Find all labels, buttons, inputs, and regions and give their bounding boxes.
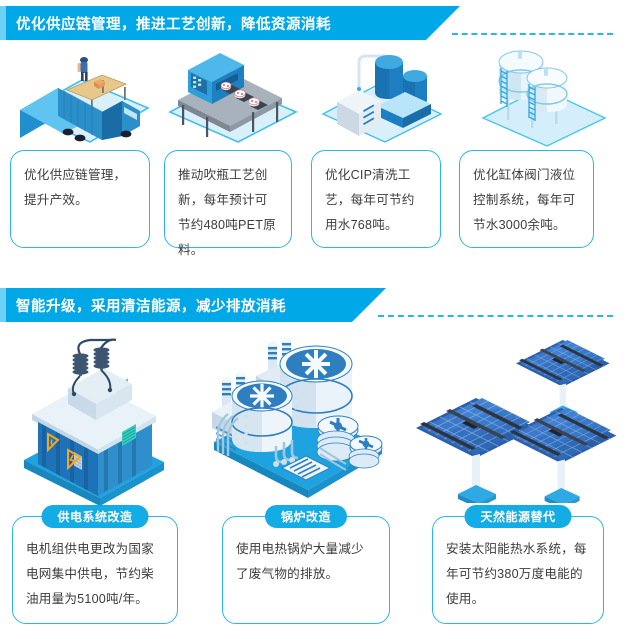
industrial-boiler-icon [212, 338, 382, 498]
banner-dashed-line-supply-chain [452, 33, 613, 35]
solar-panel-array-icon [416, 340, 616, 503]
illustration-electrical-substation [12, 336, 194, 511]
card-clean-energy-2[interactable]: 锅炉改造 使用电热锅炉大量减少了废气物的排放。 [222, 516, 390, 624]
card-supply-chain-3-text: 优化CIP清洗工艺，每年可节约用水768吨。 [312, 151, 440, 238]
card-clean-energy-2-tab: 锅炉改造 [265, 505, 347, 528]
valve-stack-small [349, 436, 382, 468]
card-supply-chain-4[interactable]: 优化缸体阀门液位控制系统，每年可节水3000余吨。 [459, 150, 594, 248]
illustration-row-supply-chain [0, 48, 633, 144]
boiler-medium [232, 381, 292, 452]
card-supply-chain-2-text: 推动吹瓶工艺创新，每年预计可节约480吨PET原料。 [165, 151, 291, 263]
card-clean-energy-1-tab: 供电系统改造 [41, 505, 148, 528]
illustration-delivery-truck-loading [6, 50, 158, 151]
section-banner-supply-chain: 优化供应链管理，推进工艺创新，降低资源消耗 [0, 6, 633, 40]
card-supply-chain-1[interactable]: 优化供应链管理，提升产效。 [10, 150, 150, 248]
banner-accent-bar [0, 288, 6, 322]
banner-dashed-line-clean-energy [378, 315, 613, 317]
card-supply-chain-2[interactable]: 推动吹瓶工艺创新，每年预计可节约480吨PET原料。 [164, 150, 292, 248]
electrical-substation-icon [24, 340, 164, 506]
banner-title-supply-chain: 优化供应链管理，推进工艺创新，降低资源消耗 [16, 13, 331, 34]
card-clean-energy-3[interactable]: 天然能源替代 安装太阳能热水系统，每年可节约380万度电能的使用。 [432, 516, 604, 624]
card-row-supply-chain: 优化供应链管理，提升产效。 推动吹瓶工艺创新，每年预计可节约480吨PET原料。… [0, 150, 633, 260]
card-supply-chain-4-text: 优化缸体阀门液位控制系统，每年可节水3000余吨。 [460, 151, 593, 238]
illustration-bottle-conveyor-line [158, 48, 310, 149]
card-supply-chain-1-text: 优化供应链管理，提升产效。 [11, 151, 149, 213]
banner-clean-energy: 智能升级，采用清洁能源，减少排放消耗 [0, 288, 352, 322]
card-clean-energy-3-text: 安装太阳能热水系统，每年可节约380万度电能的使用。 [433, 517, 603, 612]
banner-title-clean-energy: 智能升级，采用清洁能源，减少排放消耗 [16, 295, 286, 316]
card-supply-chain-3[interactable]: 优化CIP清洗工艺，每年可节约用水768吨。 [311, 150, 441, 248]
banner-accent-bar [0, 6, 6, 40]
storage-tanks-icon [483, 51, 605, 146]
delivery-truck-loading-icon [20, 57, 148, 142]
card-clean-energy-3-tab: 天然能源替代 [464, 505, 571, 528]
illustration-industrial-boiler [196, 330, 396, 510]
illustration-row-clean-energy [0, 330, 633, 505]
section-banner-clean-energy: 智能升级，采用清洁能源，减少排放消耗 [0, 288, 633, 322]
bottle-conveyor-line-icon [170, 53, 296, 142]
illustration-storage-tanks [465, 40, 627, 153]
illustration-solar-panel-array [408, 338, 633, 508]
card-clean-energy-1-text: 电机组供电更改为国家电网集中供电，节约柴油用量为5100吨/年。 [13, 517, 177, 612]
card-row-clean-energy: 供电系统改造 电机组供电更改为国家电网集中供电，节约柴油用量为5100吨/年。 … [0, 516, 633, 636]
insulator-stack [73, 353, 89, 376]
card-clean-energy-1[interactable]: 供电系统改造 电机组供电更改为国家电网集中供电，节约柴油用量为5100吨/年。 [12, 516, 178, 624]
cip-cleaning-tanks-icon [323, 55, 441, 142]
illustration-cip-cleaning-tanks [315, 44, 467, 149]
banner-supply-chain: 优化供应链管理，推进工艺创新，降低资源消耗 [0, 6, 426, 40]
insulator-stack [94, 347, 110, 370]
